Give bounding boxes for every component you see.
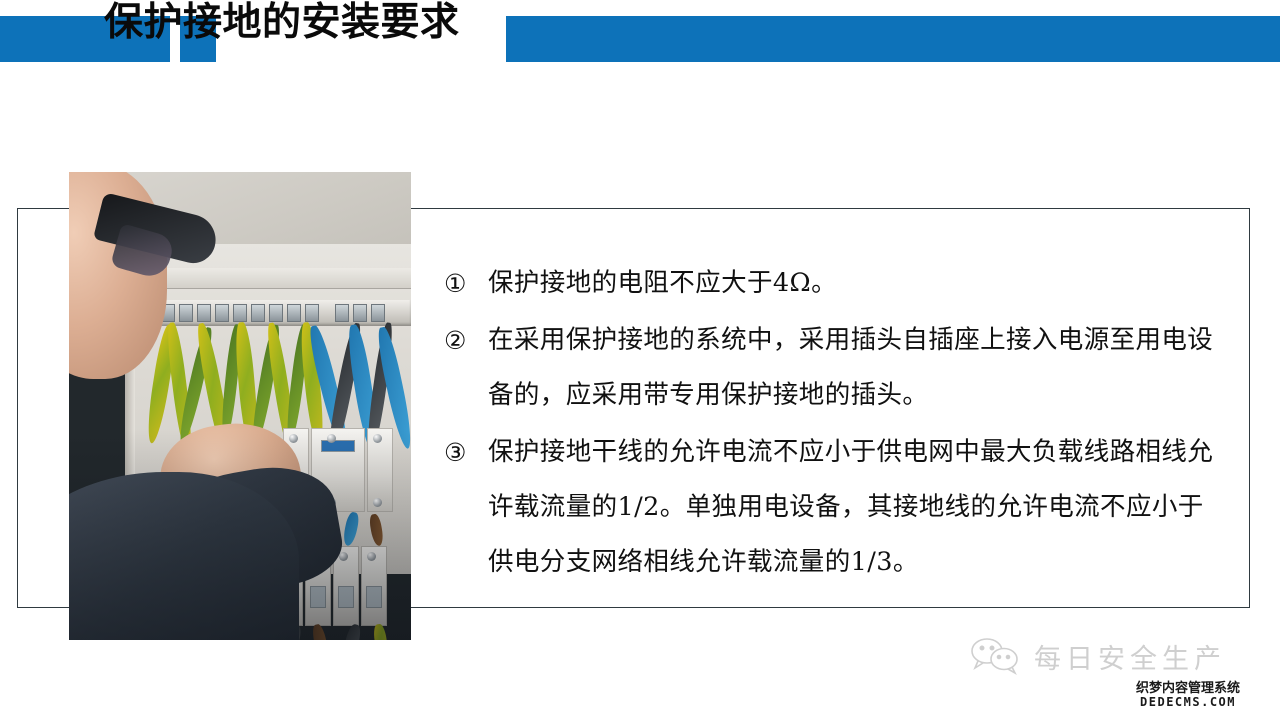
list-item: ② 在采用保护接地的系统中，采用插头自插座上接入电源至用电设备的，应采用带专用保… xyxy=(444,313,1214,423)
list-item: ③ 保护接地干线的允许电流不应小于供电网中最大负载线路相线允许载流量的1/2。单… xyxy=(444,425,1214,590)
photo-illustration xyxy=(69,172,411,640)
list-item-marker: ① xyxy=(444,256,488,311)
wechat-icon xyxy=(968,636,1024,676)
photo-vignette xyxy=(69,172,411,640)
list-item-text: 在采用保护接地的系统中，采用插头自插座上接入电源至用电设备的，应采用带专用保护接… xyxy=(488,313,1214,423)
list-item-marker: ② xyxy=(444,313,488,368)
electrician-panel-photo xyxy=(69,172,411,640)
list-item: ① 保护接地的电阻不应大于4Ω。 xyxy=(444,256,1214,311)
brand-footer: 每日安全生产 xyxy=(968,636,1226,676)
watermark-en: DEDECMS.COM xyxy=(1136,696,1240,709)
list-item-marker: ③ xyxy=(444,425,488,480)
brand-name: 每日安全生产 xyxy=(1034,637,1226,676)
title-accent-bar-right xyxy=(506,16,1280,62)
page-title: 保护接地的安装要求 xyxy=(104,0,460,49)
list-item-text: 保护接地的电阻不应大于4Ω。 xyxy=(488,256,837,311)
dedecms-watermark: 织梦内容管理系统 DEDECMS.COM xyxy=(1136,682,1240,708)
watermark-cn: 织梦内容管理系统 xyxy=(1136,682,1240,696)
slide-root: 保护接地的安装要求 xyxy=(0,0,1280,720)
list-item-text: 保护接地干线的允许电流不应小于供电网中最大负载线路相线允许载流量的1/2。单独用… xyxy=(488,425,1214,590)
requirements-list: ① 保护接地的电阻不应大于4Ω。 ② 在采用保护接地的系统中，采用插头自插座上接… xyxy=(444,256,1214,592)
